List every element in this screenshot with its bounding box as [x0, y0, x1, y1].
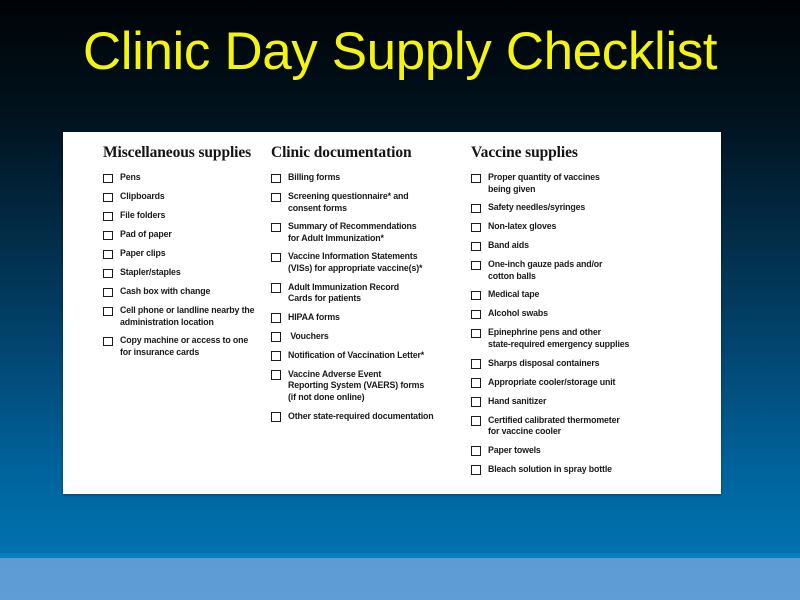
checklist-item-label: Epinephrine pens and other state-require…	[488, 326, 629, 349]
checklist-item-label: Pens	[120, 171, 141, 183]
checkbox-icon[interactable]	[271, 313, 281, 323]
checklist-item-label: Summary of Recommendations for Adult Imm…	[288, 220, 417, 243]
checklist-item-label: Billing forms	[288, 171, 340, 183]
checkbox-icon[interactable]	[471, 378, 481, 388]
checkbox-icon[interactable]	[271, 223, 281, 233]
checklist-item[interactable]: Notification of Vaccination Letter*	[271, 349, 471, 361]
checklist-item[interactable]: Stapler/staples	[103, 266, 269, 278]
checklist-column-0: Miscellaneous suppliesPensClipboardsFile…	[63, 144, 269, 494]
checklist-item[interactable]: Appropriate cooler/storage unit	[471, 376, 721, 388]
checklist-item[interactable]: Certified calibrated thermometer for vac…	[471, 414, 721, 437]
checklist-item[interactable]: Cell phone or landline nearby the admini…	[103, 304, 269, 327]
checkbox-icon[interactable]	[103, 288, 113, 298]
checkbox-icon[interactable]	[271, 370, 281, 380]
checklist-item-label: Vaccine Adverse Event Reporting System (…	[288, 368, 424, 403]
checklist-item[interactable]: Pad of paper	[103, 228, 269, 240]
checklist-item-label: Hand sanitizer	[488, 395, 546, 407]
checklist-columns: Miscellaneous suppliesPensClipboardsFile…	[63, 132, 721, 494]
checkbox-icon[interactable]	[103, 193, 113, 203]
checkbox-icon[interactable]	[103, 307, 113, 317]
checkbox-icon[interactable]	[471, 310, 481, 320]
checkbox-icon[interactable]	[271, 253, 281, 263]
checkbox-icon[interactable]	[471, 223, 481, 233]
checklist-item-label: Other state-required documentation	[288, 410, 434, 422]
checkbox-icon[interactable]	[471, 242, 481, 252]
checklist-item[interactable]: Proper quantity of vaccines being given	[471, 171, 721, 194]
checkbox-icon[interactable]	[103, 337, 113, 347]
checklist-item[interactable]: Bleach solution in spray bottle	[471, 463, 721, 475]
checklist-item[interactable]: Copy machine or access to one for insura…	[103, 334, 269, 357]
checklist-item-label: HIPAA forms	[288, 311, 340, 323]
checkbox-icon[interactable]	[103, 250, 113, 260]
slide-title: Clinic Day Supply Checklist	[0, 24, 800, 80]
checkbox-icon[interactable]	[471, 359, 481, 369]
checklist-item-label: Adult Immunization Record Cards for pati…	[288, 281, 399, 304]
checklist-item[interactable]: Band aids	[471, 239, 721, 251]
checklist-item-label: Bleach solution in spray bottle	[488, 463, 612, 475]
checklist-item[interactable]: HIPAA forms	[271, 311, 471, 323]
checklist-item-label: Medical tape	[488, 288, 539, 300]
checkbox-icon[interactable]	[471, 416, 481, 426]
checklist-item-label: Notification of Vaccination Letter*	[288, 349, 424, 361]
checklist-item[interactable]: One-inch gauze pads and/or cotton balls	[471, 258, 721, 281]
checklist-item[interactable]: Non-latex gloves	[471, 220, 721, 232]
checklist-item[interactable]: Paper clips	[103, 247, 269, 259]
checkbox-icon[interactable]	[103, 174, 113, 184]
checklist-item-label: Vaccine Information Statements (VISs) fo…	[288, 250, 422, 273]
column-heading: Clinic documentation	[271, 144, 471, 162]
checklist-item-label: Paper clips	[120, 247, 165, 259]
checkbox-icon[interactable]	[103, 231, 113, 241]
column-heading: Vaccine supplies	[471, 144, 721, 162]
checklist-item-label: Cash box with change	[120, 285, 210, 297]
checklist-item[interactable]: Vaccine Information Statements (VISs) fo…	[271, 250, 471, 273]
checkbox-icon[interactable]	[471, 397, 481, 407]
checkbox-icon[interactable]	[103, 269, 113, 279]
checklist-item-label: Proper quantity of vaccines being given	[488, 171, 600, 194]
checklist-item-label: Safety needles/syringes	[488, 201, 585, 213]
checkbox-icon[interactable]	[271, 283, 281, 293]
checklist-item[interactable]: Sharps disposal containers	[471, 357, 721, 369]
checkbox-icon[interactable]	[103, 212, 113, 222]
checklist-card: Miscellaneous suppliesPensClipboardsFile…	[63, 132, 721, 494]
checklist-item[interactable]: Vaccine Adverse Event Reporting System (…	[271, 368, 471, 403]
checklist-item[interactable]: Pens	[103, 171, 269, 183]
checklist-item-label: Vouchers	[288, 330, 329, 342]
checklist-item[interactable]: Medical tape	[471, 288, 721, 300]
checklist-item[interactable]: Adult Immunization Record Cards for pati…	[271, 281, 471, 304]
checklist-item[interactable]: Paper towels	[471, 444, 721, 456]
slide: Clinic Day Supply Checklist Miscellaneou…	[0, 0, 800, 600]
checklist-item-label: Stapler/staples	[120, 266, 181, 278]
checklist-item-label: Alcohol swabs	[488, 307, 548, 319]
checklist-item[interactable]: Epinephrine pens and other state-require…	[471, 326, 721, 349]
checklist-items: PensClipboardsFile foldersPad of paperPa…	[103, 171, 269, 357]
checkbox-icon[interactable]	[271, 174, 281, 184]
checklist-item-label: Pad of paper	[120, 228, 172, 240]
checklist-item-label: Screening questionnaire* and consent for…	[288, 190, 408, 213]
checkbox-icon[interactable]	[471, 329, 481, 339]
checklist-item-label: Cell phone or landline nearby the admini…	[120, 304, 254, 327]
checklist-items: Billing formsScreening questionnaire* an…	[271, 171, 471, 422]
checklist-item[interactable]: Other state-required documentation	[271, 410, 471, 422]
checklist-item-label: One-inch gauze pads and/or cotton balls	[488, 258, 602, 281]
checklist-item[interactable]: Alcohol swabs	[471, 307, 721, 319]
checklist-item-label: Certified calibrated thermometer for vac…	[488, 414, 620, 437]
checklist-item-label: Copy machine or access to one for insura…	[120, 334, 248, 357]
checkbox-icon[interactable]	[471, 174, 481, 184]
checklist-item-label: File folders	[120, 209, 165, 221]
checklist-item[interactable]: Vouchers	[271, 330, 471, 342]
checkbox-icon[interactable]	[271, 332, 281, 342]
checkbox-icon[interactable]	[271, 412, 281, 422]
checklist-item-label: Clipboards	[120, 190, 165, 202]
checkbox-icon[interactable]	[471, 261, 481, 271]
checkbox-icon[interactable]	[471, 446, 481, 456]
checklist-item[interactable]: Cash box with change	[103, 285, 269, 297]
checklist-item[interactable]: Screening questionnaire* and consent for…	[271, 190, 471, 213]
checklist-items: Proper quantity of vaccines being givenS…	[471, 171, 721, 475]
checkbox-icon[interactable]	[271, 351, 281, 361]
checklist-item[interactable]: Safety needles/syringes	[471, 201, 721, 213]
checklist-item-label: Sharps disposal containers	[488, 357, 599, 369]
bottom-accent-band	[0, 558, 800, 600]
checklist-item[interactable]: Clipboards	[103, 190, 269, 202]
checkbox-icon[interactable]	[271, 193, 281, 203]
checklist-item[interactable]: File folders	[103, 209, 269, 221]
checklist-item[interactable]: Hand sanitizer	[471, 395, 721, 407]
checklist-item[interactable]: Summary of Recommendations for Adult Imm…	[271, 220, 471, 243]
checkbox-icon[interactable]	[471, 291, 481, 301]
checklist-item-label: Appropriate cooler/storage unit	[488, 376, 615, 388]
checklist-item[interactable]: Billing forms	[271, 171, 471, 183]
checkbox-icon[interactable]	[471, 204, 481, 214]
checklist-item-label: Paper towels	[488, 444, 541, 456]
checklist-item-label: Non-latex gloves	[488, 220, 556, 232]
checkbox-icon[interactable]	[471, 465, 481, 475]
checklist-column-2: Vaccine suppliesProper quantity of vacci…	[471, 144, 721, 494]
checklist-item-label: Band aids	[488, 239, 529, 251]
column-heading: Miscellaneous supplies	[103, 144, 269, 162]
checklist-column-1: Clinic documentationBilling formsScreeni…	[269, 144, 471, 494]
